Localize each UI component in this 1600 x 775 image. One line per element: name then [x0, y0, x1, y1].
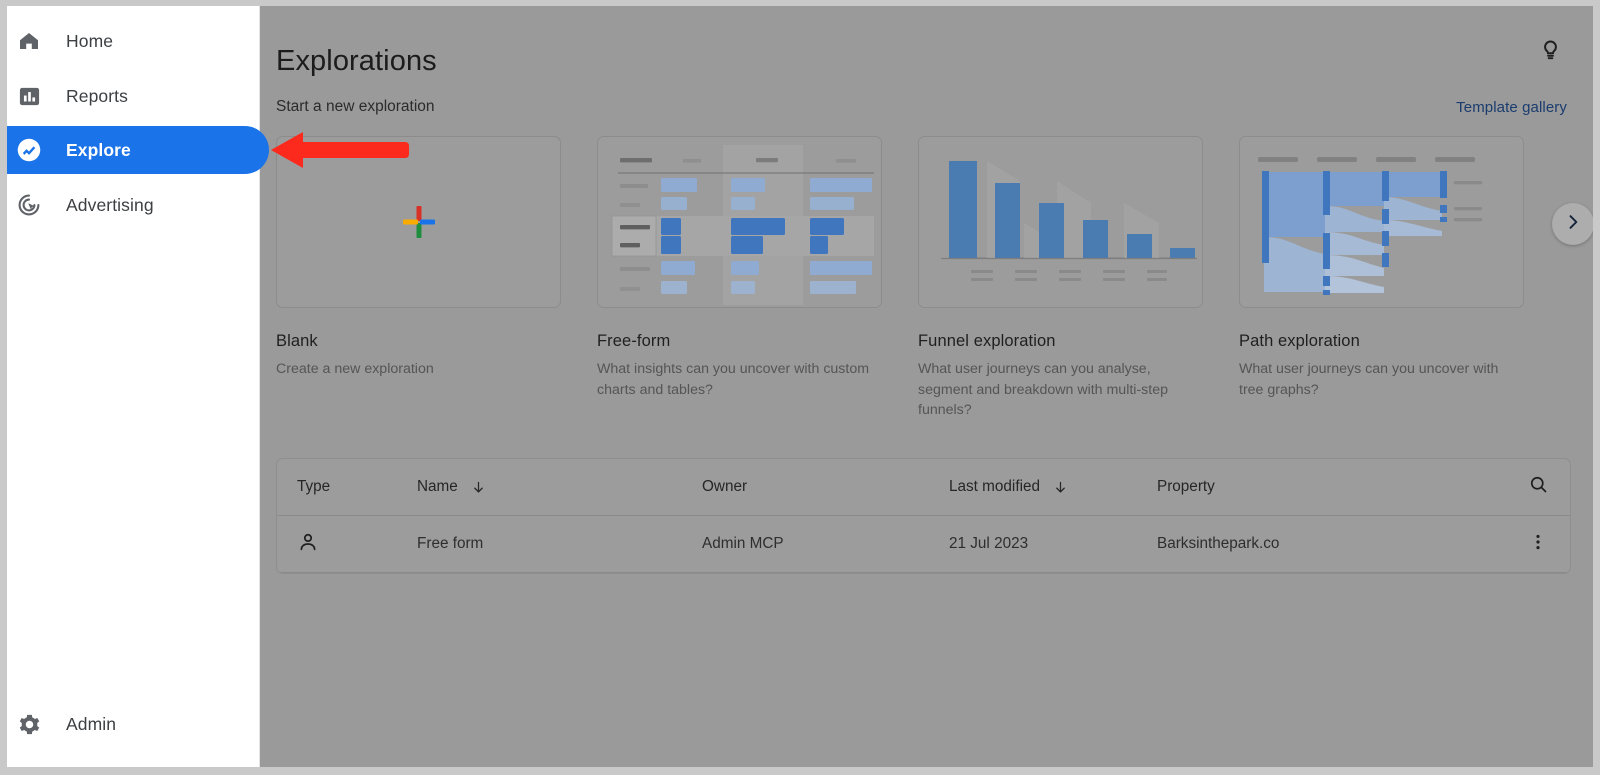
- column-label: Last modified: [949, 478, 1040, 496]
- column-label: Name: [417, 478, 458, 496]
- free-form-table-illustration: [598, 137, 882, 308]
- column-header-owner[interactable]: Owner: [702, 478, 949, 496]
- card-thumbnail-path[interactable]: [1239, 136, 1524, 308]
- table-header-row: Type Name Owner Last modified: [277, 459, 1570, 516]
- search-icon: [1528, 474, 1549, 500]
- row-property: Barksinthepark.co: [1157, 535, 1506, 553]
- sidebar-item-label: Admin: [66, 714, 116, 735]
- card-description: Create a new exploration: [276, 359, 561, 380]
- card-title: Free-form: [597, 332, 882, 351]
- column-header-property[interactable]: Property: [1157, 478, 1506, 496]
- more-vert-icon: [1528, 532, 1548, 557]
- home-icon: [16, 28, 42, 54]
- advertising-icon: [16, 192, 42, 218]
- sidebar-item-label: Reports: [66, 86, 128, 107]
- column-label: Property: [1157, 478, 1215, 496]
- column-header-name[interactable]: Name: [417, 478, 702, 496]
- app-window: Home Reports Explo: [0, 0, 1600, 775]
- page-title: Explorations: [276, 45, 437, 78]
- column-header-last-modified[interactable]: Last modified: [949, 478, 1157, 496]
- explorations-table: Type Name Owner Last modified: [276, 458, 1571, 574]
- funnel-bars-illustration: [919, 137, 1203, 308]
- table-row[interactable]: Free form Admin MCP 21 Jul 2023 Barksint…: [277, 516, 1570, 573]
- explore-icon: [16, 137, 42, 163]
- sidebar-item-explore[interactable]: Explore: [7, 126, 260, 174]
- sidebar-item-admin[interactable]: Admin: [7, 700, 259, 748]
- card-description: What user journeys can you analyse, segm…: [918, 359, 1203, 421]
- sidebar-item-label: Explore: [66, 140, 131, 161]
- gear-icon: [16, 711, 42, 737]
- start-section-label: Start a new exploration: [276, 98, 435, 116]
- sidebar-item-label: Home: [66, 31, 113, 52]
- path-sankey-illustration: [1240, 137, 1524, 308]
- main-content: Explorations Start a new exploration Tem…: [260, 6, 1593, 767]
- sort-desc-arrow-icon: [471, 480, 486, 495]
- row-more-button[interactable]: [1506, 532, 1570, 557]
- card-title: Blank: [276, 332, 561, 351]
- sort-desc-arrow-icon: [1053, 480, 1068, 495]
- sidebar-item-home[interactable]: Home: [7, 17, 259, 65]
- sidebar-item-reports[interactable]: Reports: [7, 72, 259, 120]
- card-description: What user journeys can you uncover with …: [1239, 359, 1524, 400]
- card-blank[interactable]: Blank Create a new exploration: [276, 136, 561, 380]
- card-free-form[interactable]: Free-form What insights can you uncover …: [597, 136, 882, 400]
- sidebar: Home Reports Explo: [7, 6, 260, 767]
- row-type-icon-cell: [277, 531, 417, 558]
- card-description: What insights can you uncover with custo…: [597, 359, 882, 400]
- lightbulb-icon[interactable]: [1533, 31, 1567, 65]
- person-icon: [297, 540, 319, 557]
- carousel-next-button[interactable]: [1552, 203, 1593, 245]
- card-title: Path exploration: [1239, 332, 1524, 351]
- sidebar-item-label: Advertising: [66, 195, 154, 216]
- table-search-button[interactable]: [1506, 474, 1570, 500]
- google-plus-icon: [397, 200, 441, 244]
- column-label: Type: [297, 478, 330, 496]
- row-name: Free form: [417, 535, 702, 553]
- active-pill: [7, 126, 269, 174]
- card-thumbnail-blank[interactable]: [276, 136, 561, 308]
- row-owner: Admin MCP: [702, 535, 949, 553]
- column-header-type[interactable]: Type: [277, 478, 417, 496]
- card-thumbnail-free-form[interactable]: [597, 136, 882, 308]
- column-label: Owner: [702, 478, 747, 496]
- card-funnel-exploration[interactable]: Funnel exploration What user journeys ca…: [918, 136, 1203, 421]
- sidebar-item-advertising[interactable]: Advertising: [7, 181, 259, 229]
- template-gallery-link[interactable]: Template gallery: [1456, 99, 1567, 116]
- bar-chart-icon: [16, 83, 42, 109]
- card-thumbnail-funnel[interactable]: [918, 136, 1203, 308]
- chevron-right-icon: [1563, 212, 1583, 237]
- row-last-modified: 21 Jul 2023: [949, 535, 1157, 553]
- card-path-exploration[interactable]: Path exploration What user journeys can …: [1239, 136, 1524, 400]
- exploration-card-carousel: Blank Create a new exploration: [276, 136, 1576, 411]
- card-title: Funnel exploration: [918, 332, 1203, 351]
